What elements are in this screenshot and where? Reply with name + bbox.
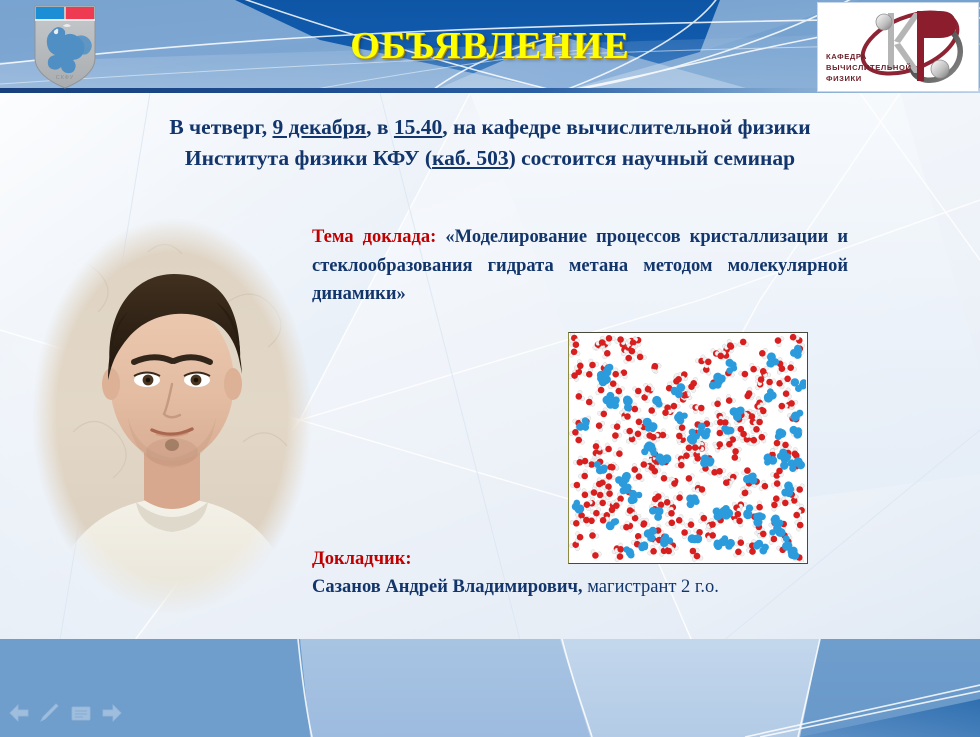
announcement-part2: , в [366, 115, 394, 139]
speaker-line: Сазанов Андрей Владимирович, магистрант … [312, 573, 872, 601]
menu-icon[interactable] [70, 703, 92, 723]
next-slide-icon[interactable] [101, 703, 123, 723]
coat-of-arms-caption: СКФУ [56, 75, 74, 81]
announcement-part1: В четверг, [169, 115, 272, 139]
talk-topic-label: Тема доклада: [312, 227, 436, 247]
announcement-line2-part2: ) состоится научный семинар [509, 146, 796, 170]
department-logo-line2: ВЫЧИСЛИТЕЛЬНОЙ [826, 63, 912, 72]
department-logo-icon: КАФЕДРА ВЫЧИСЛИТЕЛЬНОЙ ФИЗИКИ [818, 3, 978, 91]
speaker-portrait-illustration [28, 212, 316, 620]
molecular-dynamics-illustration [569, 333, 806, 562]
announcement-time: 15.40 [394, 115, 442, 139]
speaker-photo-oval-mask [28, 212, 316, 620]
department-logo-line3: ФИЗИКИ [826, 74, 862, 83]
slide-footer-band [0, 639, 980, 737]
footer-decoration [0, 639, 980, 737]
announcement-text: В четверг, 9 декабря, в 15.40, на кафедр… [40, 112, 940, 174]
announcement-date: 9 декабря [272, 115, 366, 139]
coat-of-arms-icon: СКФУ [31, 2, 99, 90]
department-logo-line1: КАФЕДРА [826, 52, 867, 61]
presentation-toolbar[interactable] [8, 700, 128, 726]
molecular-dynamics-snapshot [568, 332, 808, 564]
kfu-coat-of-arms: СКФУ [31, 2, 99, 90]
talk-topic-block: Тема доклада: «Моделирование процессов к… [312, 223, 848, 309]
speaker-degree: магистрант 2 г.о. [583, 577, 719, 597]
previous-slide-icon[interactable] [8, 703, 30, 723]
announcement-line2-part1: Института физики КФУ ( [185, 146, 432, 170]
announcement-room: каб. 503 [432, 146, 509, 170]
pen-tool-icon[interactable] [39, 703, 61, 723]
speaker-photo [28, 212, 316, 620]
announcement-part3: , на кафедре вычислительной физики [442, 115, 810, 139]
presentation-slide: ОБЪЯВЛЕНИЕ СК [0, 0, 980, 737]
computational-physics-department-logo: КАФЕДРА ВЫЧИСЛИТЕЛЬНОЙ ФИЗИКИ [817, 2, 979, 92]
speaker-label: Докладчик: [312, 545, 872, 573]
speaker-name: Сазанов Андрей Владимирович, [312, 577, 583, 597]
speaker-block: Докладчик: Сазанов Андрей Владимирович, … [312, 545, 872, 601]
